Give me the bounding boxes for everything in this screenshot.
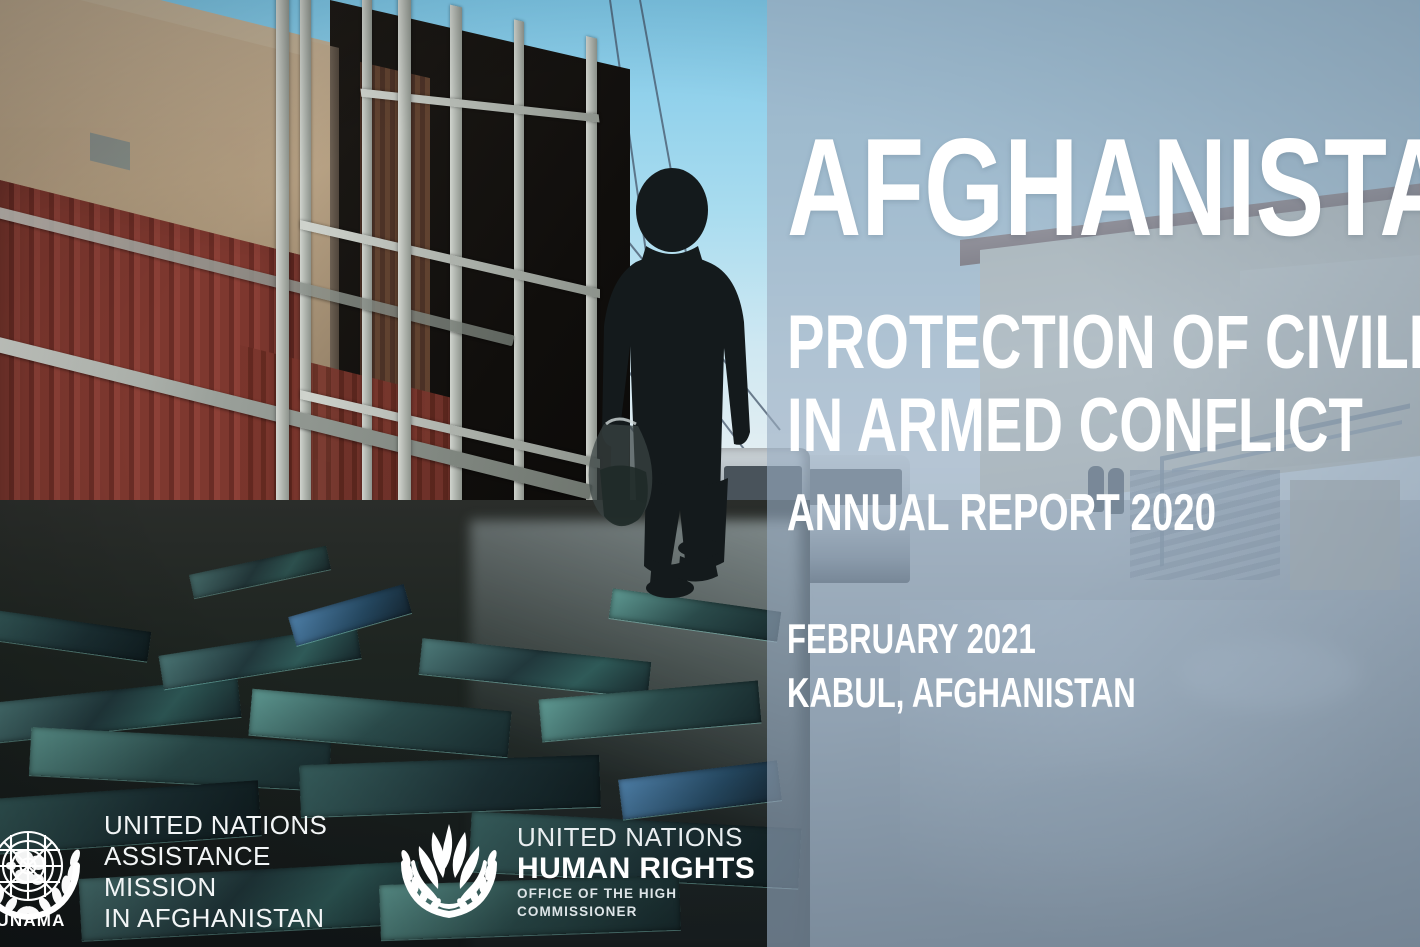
unama-line-2: ASSISTANCE MISSION <box>104 841 347 903</box>
unama-line-3: IN AFGHANISTAN <box>104 903 347 934</box>
subtitle-line-1: PROTECTION OF CIVILIANS <box>787 305 1420 381</box>
ohchr-wordmark: UNITED NATIONS HUMAN RIGHTS OFFICE OF TH… <box>517 823 760 921</box>
ohchr-flame-hands-laurel-icon <box>393 816 505 928</box>
unama-acronym: UNAMA <box>0 911 90 931</box>
report-label: ANNUAL REPORT 2020 <box>787 487 1216 539</box>
subtitle-line-2: IN ARMED CONFLICT <box>787 388 1363 464</box>
title-overlay-panel: AFGHANISTAN PROTECTION OF CIVILIANS IN A… <box>767 0 1420 947</box>
ohchr-line-1: UNITED NATIONS <box>517 823 760 852</box>
unama-line-1: UNITED NATIONS <box>104 810 347 841</box>
logo-bar: UNAMA UNITED NATIONS ASSISTANCE MISSION … <box>0 797 760 947</box>
ohchr-line-3: OFFICE OF THE HIGH COMMISSIONER <box>517 885 760 921</box>
unama-wordmark: UNITED NATIONS ASSISTANCE MISSION IN AFG… <box>104 810 347 934</box>
report-cover: AFGHANISTAN PROTECTION OF CIVILIANS IN A… <box>0 0 1420 947</box>
logo-unama: UNAMA UNITED NATIONS ASSISTANCE MISSION … <box>0 810 347 934</box>
page-title: AFGHANISTAN <box>787 118 1420 257</box>
publication-date: FEBRUARY 2021 <box>787 618 1036 660</box>
publication-location: KABUL, AFGHANISTAN <box>787 672 1136 714</box>
logo-ohchr: UNITED NATIONS HUMAN RIGHTS OFFICE OF TH… <box>393 816 760 928</box>
un-globe-laurel-icon: UNAMA <box>0 816 90 928</box>
ohchr-line-2: HUMAN RIGHTS <box>517 852 760 885</box>
